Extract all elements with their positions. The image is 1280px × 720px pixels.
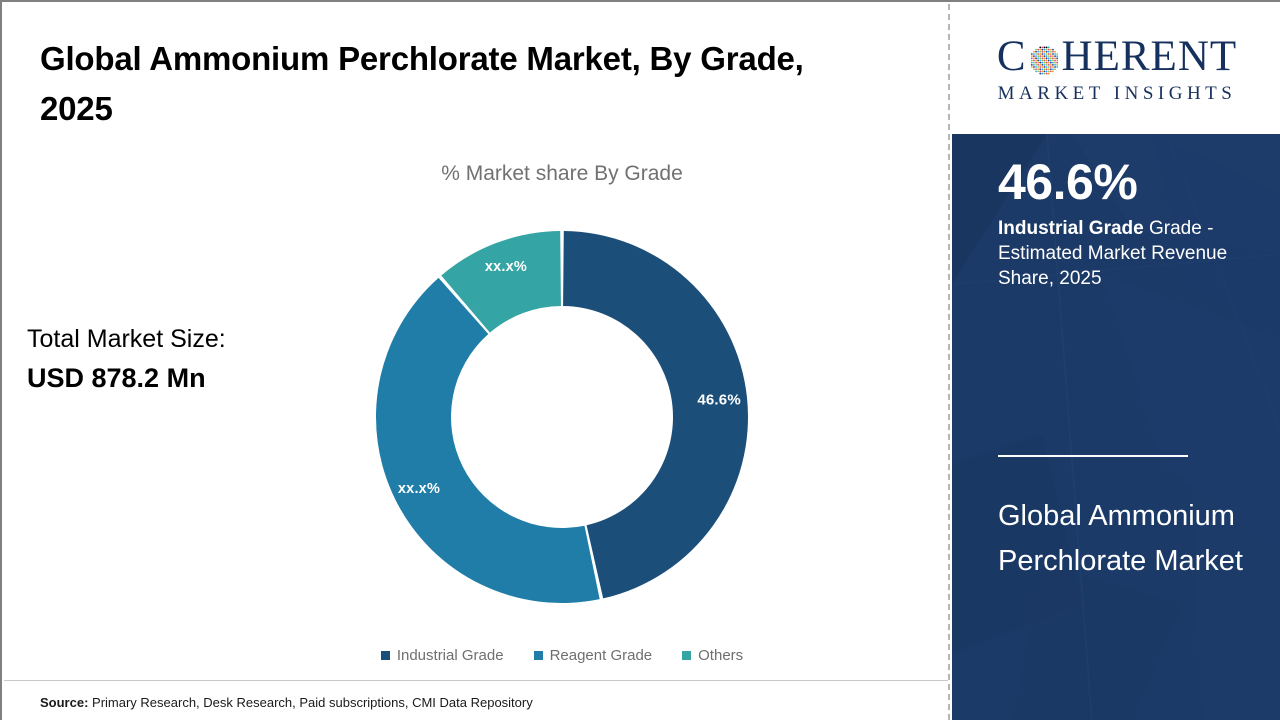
stat-sidebar-panel: 46.6% Industrial Grade Grade - Estimated… [952,134,1280,720]
globe-dot [1043,73,1045,75]
globe-dot [1043,66,1045,68]
globe-dot [1043,70,1045,72]
globe-dot [1056,62,1058,64]
globe-dot [1047,64,1049,66]
legend-item[interactable]: Others [682,647,743,664]
globe-dot [1039,57,1041,59]
globe-dot [1035,62,1037,64]
globe-dot [1039,47,1041,49]
legend-item[interactable]: Industrial Grade [381,647,504,664]
donut-chart: 46.6% xx.x% xx.x% [375,230,749,604]
globe-dot [1054,66,1056,68]
globe-dot [1039,68,1041,70]
globe-dot [1035,51,1037,53]
globe-dot [1039,62,1041,64]
globe-dot [1039,64,1041,66]
globe-dot [1039,60,1041,62]
legend-swatch-icon [534,651,543,660]
globe-dot [1039,73,1041,75]
slice-label-industrial-grade: 46.6% [697,392,741,409]
globe-dot [1052,49,1054,51]
globe-dot [1049,70,1051,72]
globe-dot [1047,55,1049,57]
slice-label-others: xx.x% [485,259,527,275]
globe-dot [1052,55,1054,57]
globe-dot [1052,62,1054,64]
globe-dot [1052,70,1054,72]
globe-dot [1045,51,1047,53]
globe-dot [1049,60,1051,62]
globe-dot [1030,57,1032,59]
globe-dot [1045,47,1047,49]
globe-dot [1049,53,1051,55]
globe-dot [1033,68,1035,70]
globe-dot [1047,66,1049,68]
globe-dot [1033,66,1035,68]
donut-slice [563,231,748,598]
globe-icon-svg [1028,44,1061,77]
globe-dot [1045,60,1047,62]
stat-segment-name: Industrial Grade [998,218,1144,239]
globe-dot [1037,66,1039,68]
globe-dot [1033,55,1035,57]
globe-dot [1047,53,1049,55]
globe-dot [1052,57,1054,59]
globe-dot [1033,53,1035,55]
globe-dot [1049,68,1051,70]
globe-dot [1049,66,1051,68]
globe-dot [1035,68,1037,70]
globe-dot [1047,70,1049,72]
globe-dot [1045,62,1047,64]
globe-dot [1054,51,1056,53]
globe-dot [1043,60,1045,62]
globe-dot [1054,68,1056,70]
globe-dot [1039,70,1041,72]
globe-dot [1041,68,1043,70]
globe-dot [1035,49,1037,51]
globe-dot [1037,68,1039,70]
vertical-dashed-divider [948,4,950,720]
globe-dot [1047,68,1049,70]
globe-dot [1049,55,1051,57]
globe-dot [1035,66,1037,68]
source-prefix: Source: [40,695,88,710]
globe-dot [1045,66,1047,68]
logo-subtitle: MARKET INSIGHTS [998,84,1237,103]
globe-dot [1045,53,1047,55]
legend-label: Others [698,647,743,664]
globe-dot [1056,66,1058,68]
globe-dot [1043,64,1045,66]
globe-dot [1030,60,1032,62]
globe-dot [1052,64,1054,66]
globe-dot [1037,62,1039,64]
stat-block: 46.6% Industrial Grade Grade - Estimated… [998,156,1250,292]
globe-dot [1052,51,1054,53]
globe-dot [1049,57,1051,59]
globe-dot [1041,53,1043,55]
globe-dot [1045,73,1047,75]
globe-dot [1054,53,1056,55]
globe-dot [1039,53,1041,55]
globe-dot [1043,47,1045,49]
globe-dot [1030,53,1032,55]
globe-dot [1041,57,1043,59]
globe-dot [1037,57,1039,59]
globe-dot [1043,57,1045,59]
globe-dot [1041,51,1043,53]
globe-dot [1039,66,1041,68]
globe-dot [1037,70,1039,72]
legend-item[interactable]: Reagent Grade [534,647,653,664]
globe-dot [1041,47,1043,49]
legend-swatch-icon [381,651,390,660]
stat-value: 46.6% [998,156,1250,209]
globe-dot [1041,60,1043,62]
globe-dot [1054,55,1056,57]
sidebar-divider [998,455,1188,457]
globe-dot [1056,64,1058,66]
globe-dot [1047,60,1049,62]
globe-dot [1043,55,1045,57]
globe-dot [1056,60,1058,62]
globe-dot [1041,73,1043,75]
globe-dot [1045,70,1047,72]
globe-dot [1045,68,1047,70]
globe-dot [1045,57,1047,59]
globe-dot [1030,66,1032,68]
globe-dot [1030,64,1032,66]
slice-label-reagent-grade: xx.x% [398,481,440,497]
globe-dot [1039,51,1041,53]
logo-letter-c: C [997,35,1027,78]
globe-dot [1037,49,1039,51]
brand-logo: C HERENT MARKET INSIGHTS [952,4,1280,134]
total-market-size-label: Total Market Size: [27,325,226,354]
globe-dot [1056,55,1058,57]
globe-dot [1043,62,1045,64]
globe-dot [1037,55,1039,57]
chart-legend: Industrial GradeReagent GradeOthers [302,647,822,664]
infographic-page: Global Ammonium Perchlorate Market, By G… [0,0,1280,720]
globe-dot [1035,60,1037,62]
source-divider [4,680,948,681]
globe-dot [1052,66,1054,68]
page-title: Global Ammonium Perchlorate Market, By G… [40,34,830,134]
globe-dot [1052,53,1054,55]
globe-dot [1041,64,1043,66]
globe-dot [1049,51,1051,53]
globe-dot [1049,49,1051,51]
globe-dot [1037,51,1039,53]
globe-dot [1047,73,1049,75]
globe-dot [1033,57,1035,59]
globe-dot [1052,68,1054,70]
globe-dot [1056,53,1058,55]
globe-dot [1047,49,1049,51]
globe-dot [1041,55,1043,57]
globe-dot [1035,64,1037,66]
globe-dot [1045,64,1047,66]
sidebar-market-name: Global Ammonium Perchlorate Market [998,494,1248,584]
globe-dot [1041,70,1043,72]
globe-dot [1033,51,1035,53]
globe-dot [1054,60,1056,62]
globe-dot [1041,62,1043,64]
globe-dot [1047,51,1049,53]
globe-dot [1033,64,1035,66]
stat-description: Industrial Grade Grade - Estimated Marke… [998,216,1250,292]
chart-subtitle: % Market share By Grade [302,162,822,186]
globe-dot [1054,64,1056,66]
globe-dot [1056,57,1058,59]
source-text: Primary Research, Desk Research, Paid su… [88,695,532,710]
legend-swatch-icon [682,651,691,660]
globe-dot [1037,64,1039,66]
globe-dot [1043,53,1045,55]
legend-label: Industrial Grade [397,647,504,664]
globe-dot [1041,49,1043,51]
globe-dot [1054,57,1056,59]
globe-dot [1035,70,1037,72]
logo-word-herent: HERENT [1062,35,1238,78]
globe-dot [1035,57,1037,59]
globe-dot [1045,49,1047,51]
globe-dot [1047,57,1049,59]
globe-dot [1047,62,1049,64]
globe-dot [1049,64,1051,66]
globe-dot [1037,60,1039,62]
globe-dot [1049,62,1051,64]
globe-dot [1043,49,1045,51]
globe-dot [1037,53,1039,55]
globe-dot [1035,53,1037,55]
globe-dot [1045,55,1047,57]
globe-dot [1035,55,1037,57]
globe-icon [1028,42,1061,75]
globe-dot [1033,62,1035,64]
logo-wordmark: C HERENT [997,35,1237,78]
globe-dot [1039,55,1041,57]
globe-dot [1043,51,1045,53]
globe-dot [1030,55,1032,57]
globe-dot [1047,47,1049,49]
globe-dot [1043,68,1045,70]
globe-dot [1052,60,1054,62]
donut-chart-svg [375,230,749,604]
globe-dot [1030,62,1032,64]
globe-dot [1041,66,1043,68]
source-note: Source: Primary Research, Desk Research,… [40,695,533,710]
total-market-size-value: USD 878.2 Mn [27,363,206,394]
globe-dot [1054,62,1056,64]
legend-label: Reagent Grade [550,647,653,664]
globe-dot [1039,49,1041,51]
globe-dot [1033,60,1035,62]
